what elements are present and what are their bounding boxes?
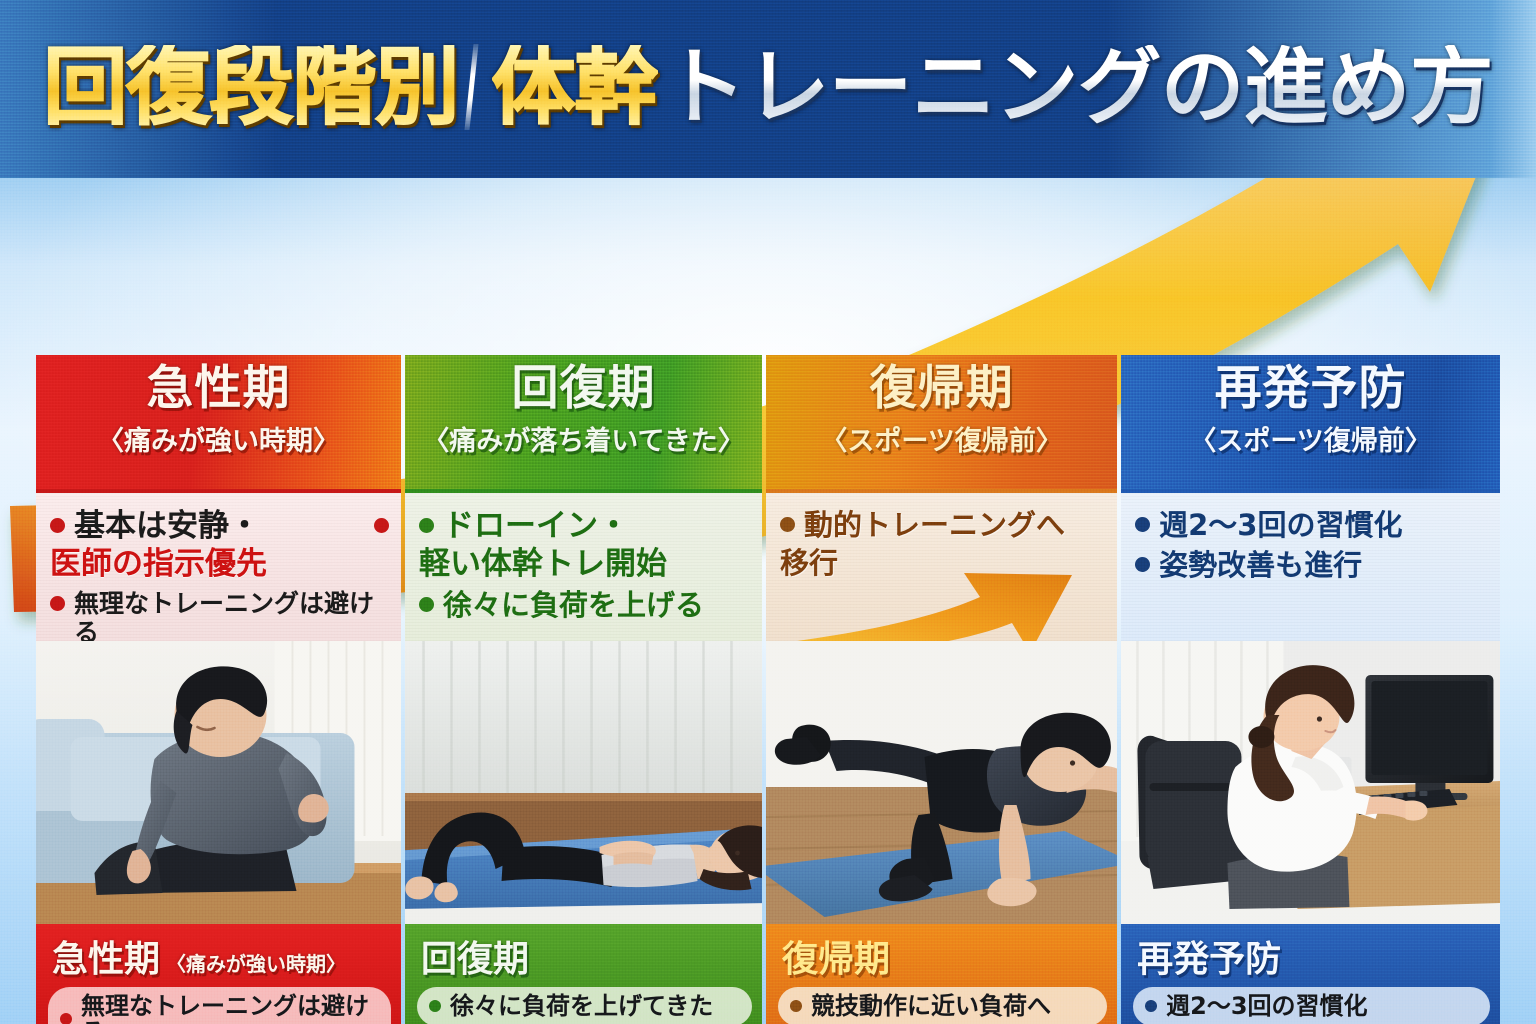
page-title: 回復段階別 体幹 トレーニングの進め方 [0, 44, 1536, 130]
list-item: 軽い体幹トレ開始 [419, 547, 750, 583]
column-return: 復帰期 〈スポーツ復帰前〉 動的トレーニングへ 移行 [766, 355, 1117, 1024]
bullet-text: 無理なトレーニングは避ける [74, 589, 389, 641]
list-item: 週2〜3回の習慣化 [1135, 509, 1488, 543]
column-subtitle: 〈スポーツ復帰前〉 [766, 419, 1117, 458]
bullet-list-prevention: 週2〜3回の習慣化 姿勢改善も進行 [1121, 489, 1500, 641]
bottom-title-group: 復帰期 [778, 930, 1107, 982]
bottom-title-group: 再発予防 [1133, 930, 1490, 982]
photo-recovery [405, 641, 762, 924]
bullet-dot-icon [780, 517, 795, 532]
photo-return [766, 641, 1117, 924]
bottom-subtitle: 〈痛みが強い時期〉 [166, 948, 346, 977]
list-item: 姿勢改善も進行 [1135, 549, 1488, 583]
title-divider [465, 44, 479, 130]
photo-prevention [1121, 641, 1500, 924]
bullet-dot-icon [60, 1013, 72, 1024]
bullet-list-recovery: ドローイン・ 軽い体幹トレ開始 徐々に負荷を上げる [405, 489, 762, 641]
pill-text: 競技動作に近い負荷へ [811, 993, 1051, 1019]
bottom-band-return: 復帰期 競技動作に近い負荷へ [766, 924, 1117, 1024]
bullet-list-return: 動的トレーニングへ 移行 [766, 489, 1117, 641]
infographic-canvas: 回復段階別 体幹 トレーニングの進め方 急性期 〈痛みが強い時期〉 基本は安静・… [0, 0, 1536, 1024]
list-item: 移行 [780, 547, 1105, 581]
bottom-pill-prevention: 週2〜3回の習慣化 [1133, 987, 1490, 1024]
title-banner: 回復段階別 体幹 トレーニングの進め方 [0, 0, 1536, 178]
column-subtitle: 〈スポーツ復帰前〉 [1121, 419, 1500, 458]
column-acute: 急性期 〈痛みが強い時期〉 基本は安静・ 医師の指示優先 無理なトレーニングは避… [36, 355, 401, 1024]
column-subtitle: 〈痛みが落ち着いてきた〉 [405, 419, 762, 458]
stage-columns: 急性期 〈痛みが強い時期〉 基本は安静・ 医師の指示優先 無理なトレーニングは避… [36, 355, 1500, 1024]
bullet-dot-icon [374, 518, 389, 533]
bottom-title: 復帰期 [782, 930, 890, 982]
bullet-dot-icon [790, 1000, 802, 1012]
bottom-title: 急性期 [52, 930, 160, 982]
bullet-text: 動的トレーニングへ [804, 509, 1105, 543]
bullet-dot-icon [1135, 517, 1150, 532]
bullet-dot-icon [50, 518, 65, 533]
bullet-text: 軽い体幹トレ開始 [419, 547, 750, 583]
bullet-text: 姿勢改善も進行 [1159, 549, 1488, 583]
bottom-pill-recovery: 徐々に負荷を上げてきた [417, 987, 752, 1024]
bullet-text: 週2〜3回の習慣化 [1159, 509, 1488, 543]
bullet-text: ドローイン・ [443, 509, 750, 545]
bullet-dot-icon [419, 518, 434, 533]
bottom-band-recovery: 回復期 徐々に負荷を上げてきた [405, 924, 762, 1024]
list-item: 徐々に負荷を上げる [419, 589, 750, 623]
bullet-dot-icon [50, 596, 65, 611]
column-title: 再発予防 [1121, 365, 1500, 413]
photo-acute [36, 641, 401, 924]
list-item: ドローイン・ [419, 509, 750, 545]
title-part-stage: 回復段階別 [43, 45, 458, 129]
list-item: 基本は安静・ [50, 509, 389, 545]
bullet-dot-icon [419, 597, 434, 612]
bullet-text-emphasis: 医師の指示優先 [50, 547, 389, 583]
bullet-dot-icon [1145, 1000, 1157, 1012]
bullet-dot-icon [1135, 557, 1150, 572]
title-part-core: 体幹 [492, 45, 658, 129]
bullet-list-acute: 基本は安静・ 医師の指示優先 無理なトレーニングは避ける [36, 489, 401, 641]
bottom-title: 回復期 [421, 930, 529, 982]
column-title: 回復期 [405, 365, 762, 413]
column-header-return: 復帰期 〈スポーツ復帰前〉 [766, 355, 1117, 489]
column-subtitle: 〈痛みが強い時期〉 [36, 419, 401, 458]
bottom-title-group: 急性期 〈痛みが強い時期〉 [48, 930, 391, 982]
bullet-dot-icon [429, 1000, 441, 1012]
list-item: 医師の指示優先 [50, 547, 389, 583]
bullet-text: 徐々に負荷を上げる [443, 589, 750, 623]
bullet-text: 基本は安静・ [74, 509, 365, 545]
column-header-acute: 急性期 〈痛みが強い時期〉 [36, 355, 401, 489]
bottom-pill-return: 競技動作に近い負荷へ [778, 987, 1107, 1024]
column-title: 急性期 [36, 365, 401, 413]
bottom-title: 再発予防 [1137, 930, 1281, 982]
column-recovery: 回復期 〈痛みが落ち着いてきた〉 ドローイン・ 軽い体幹トレ開始 徐々に負荷を上… [405, 355, 762, 1024]
bottom-band-acute: 急性期 〈痛みが強い時期〉 無理なトレーニングは避ける [36, 924, 401, 1024]
pill-text: 週2〜3回の習慣化 [1166, 993, 1367, 1019]
title-part-training: トレーニングの進め方 [663, 45, 1493, 129]
bottom-title-group: 回復期 [417, 930, 752, 982]
pill-text: 徐々に負荷を上げてきた [450, 993, 713, 1019]
bottom-pill-acute: 無理なトレーニングは避ける [48, 987, 391, 1024]
column-header-recovery: 回復期 〈痛みが落ち着いてきた〉 [405, 355, 762, 489]
column-title: 復帰期 [766, 365, 1117, 413]
list-item: 無理なトレーニングは避ける [50, 589, 389, 641]
pill-text: 無理なトレーニングは避ける [81, 993, 381, 1024]
column-prevention: 再発予防 〈スポーツ復帰前〉 週2〜3回の習慣化 姿勢改善も進行 [1121, 355, 1500, 1024]
column-header-prevention: 再発予防 〈スポーツ復帰前〉 [1121, 355, 1500, 489]
list-item: 動的トレーニングへ [780, 509, 1105, 543]
bottom-band-prevention: 再発予防 週2〜3回の習慣化 [1121, 924, 1500, 1024]
bullet-text: 移行 [780, 547, 1105, 581]
